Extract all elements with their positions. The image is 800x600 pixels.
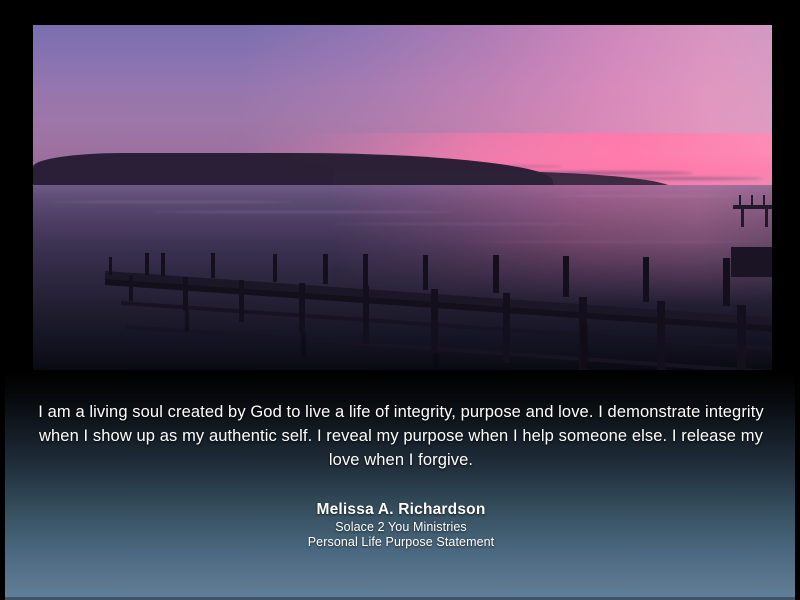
far-dock-post (751, 195, 753, 207)
slide-frame-right (795, 0, 800, 600)
pier-post (145, 253, 149, 275)
purpose-statement-text: I am a living soul created by God to liv… (36, 400, 766, 472)
pier-pile (503, 293, 510, 363)
far-dock-lower (731, 247, 772, 277)
pier-post (643, 257, 649, 302)
organization-name: Solace 2 You Ministries (36, 520, 766, 535)
pier-pile (299, 283, 305, 333)
pier-post (563, 256, 569, 297)
pier-pile (431, 289, 438, 353)
slide-frame-left (0, 0, 5, 600)
pier-rail-lower (125, 325, 772, 370)
sunset-pier-photograph (33, 25, 772, 370)
pier-post (211, 253, 215, 278)
pier-post (273, 254, 277, 282)
pier-reflection (581, 325, 588, 370)
far-dock-post (739, 195, 741, 207)
pier-pile (737, 305, 746, 370)
far-dock-pile (765, 209, 768, 227)
author-name: Melissa A. Richardson (36, 500, 766, 520)
pier-pile (363, 286, 369, 344)
pier-pile (657, 301, 665, 370)
document-title: Personal Life Purpose Statement (36, 535, 766, 550)
pier-pile (183, 277, 188, 311)
pier-reflection (433, 353, 439, 370)
presentation-slide: I am a living soul created by God to liv… (0, 0, 800, 600)
pier-reflection (301, 333, 306, 357)
pier-post (323, 254, 328, 284)
pier-post (493, 255, 499, 293)
pier-pile (129, 275, 133, 301)
pier-structure (33, 25, 772, 370)
pier-reflection (185, 311, 189, 331)
pier-post (109, 257, 112, 275)
pier-post (161, 253, 165, 276)
pier-post (723, 258, 730, 306)
attribution-block: Melissa A. Richardson Solace 2 You Minis… (36, 500, 766, 550)
far-dock-pile (741, 209, 744, 227)
pier-pile (239, 280, 244, 322)
pier-post (363, 254, 368, 286)
far-dock-post (763, 195, 765, 207)
pier-post (423, 255, 428, 290)
